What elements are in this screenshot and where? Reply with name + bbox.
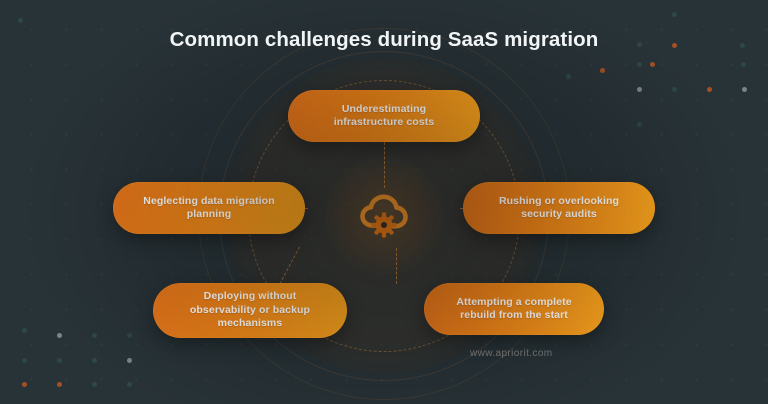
decorative-dot xyxy=(127,382,132,387)
decorative-dot xyxy=(18,18,23,23)
challenge-pill-rushing-security-audits[interactable]: Rushing or overlookingsecurity audits xyxy=(463,182,655,234)
page-title: Common challenges during SaaS migration xyxy=(0,28,768,52)
decorative-dot xyxy=(92,333,97,338)
connector-bottom-right xyxy=(396,248,397,284)
decorative-dot xyxy=(672,12,677,17)
decorative-dot xyxy=(707,87,712,92)
decorative-dot xyxy=(600,68,605,73)
decorative-dot xyxy=(92,358,97,363)
connector-top xyxy=(384,142,385,188)
decorative-dot xyxy=(672,87,677,92)
decorative-dot xyxy=(637,122,642,127)
challenge-pill-underestimating-costs[interactable]: Underestimatinginfrastructure costs xyxy=(288,90,480,142)
decorative-dot xyxy=(566,74,571,79)
decorative-dot xyxy=(637,62,642,67)
challenge-pill-deploying-without-observability[interactable]: Deploying withoutobservability or backup… xyxy=(153,283,347,338)
decorative-dot xyxy=(92,382,97,387)
decorative-dot xyxy=(741,62,746,67)
decorative-dot xyxy=(22,382,27,387)
decorative-dot xyxy=(127,333,132,338)
watermark: www.apriorit.com xyxy=(470,348,553,359)
decorative-dot xyxy=(127,358,132,363)
decorative-dot xyxy=(650,62,655,67)
decorative-dot xyxy=(742,87,747,92)
decorative-dot xyxy=(22,328,27,333)
decorative-dot xyxy=(637,87,642,92)
challenge-pill-neglecting-migration-planning[interactable]: Neglecting data migrationplanning xyxy=(113,182,305,234)
decorative-dot xyxy=(57,382,62,387)
cloud-gear-icon xyxy=(356,188,412,244)
decorative-dot xyxy=(57,333,62,338)
infographic-canvas: Underestimatinginfrastructure costs Negl… xyxy=(0,0,768,404)
decorative-dot xyxy=(22,358,27,363)
challenge-pill-attempting-complete-rebuild[interactable]: Attempting a completerebuild from the st… xyxy=(424,283,604,335)
decorative-dot xyxy=(57,358,62,363)
